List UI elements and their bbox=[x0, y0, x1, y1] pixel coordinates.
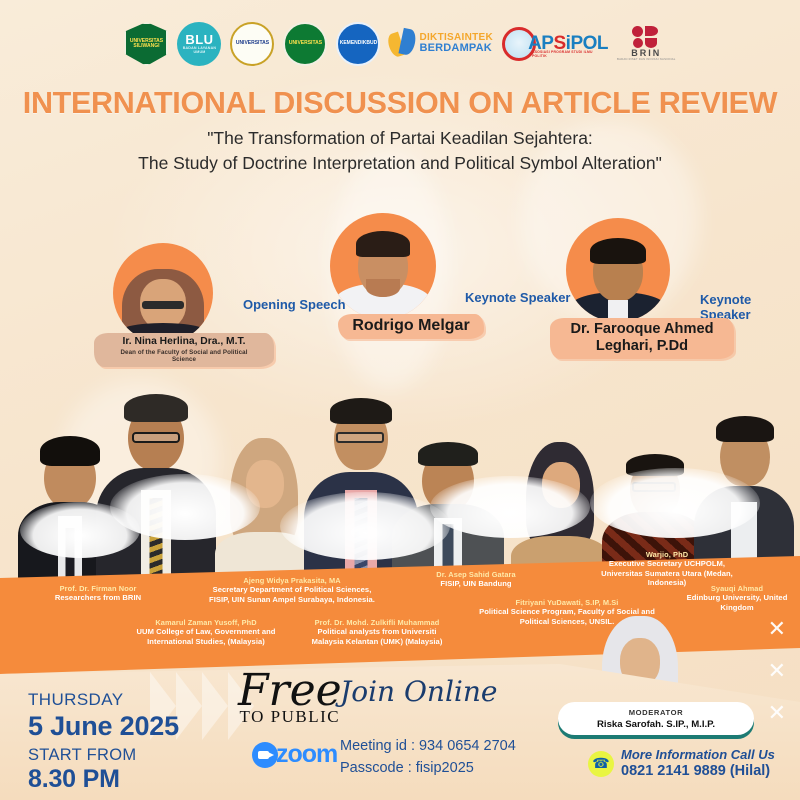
join-online-heading: Join Online bbox=[340, 678, 497, 706]
video-camera-icon bbox=[252, 742, 278, 768]
logo-sublabel: BADAN RISET DAN INOVASI NASIONAL bbox=[617, 58, 676, 61]
moderator-label: MODERATOR bbox=[562, 708, 750, 717]
speaker-name-line-2: Leghari, P.Dd bbox=[596, 338, 688, 354]
free-word: Free bbox=[238, 672, 342, 709]
join-online-text: Join Online bbox=[340, 678, 497, 706]
logo-apsipol: APSiPOL ASOSIASI PROGRAM STUDI ILMU POLI… bbox=[502, 27, 608, 61]
x-mark-icon: ✕ bbox=[768, 702, 786, 724]
speaker-name-farooque-ahmed-leghari: Dr. Farooque Ahmed Leghari, P.Dd bbox=[550, 318, 734, 359]
passcode-label: Passcode bbox=[340, 760, 404, 776]
poster-subtitle: "The Transformation of Partai Keadilan S… bbox=[0, 126, 800, 177]
brin-mark-icon bbox=[632, 26, 660, 48]
logo-label: UNIVERSITAS bbox=[236, 41, 269, 46]
zoom-logo: zoom bbox=[252, 740, 337, 769]
logo-unsil-green-shield: UNIVERSITAS SILIWANGI bbox=[124, 22, 168, 66]
event-datetime-block: THURSDAY 5 June 2025 START FROM 8.30 PM bbox=[28, 690, 179, 794]
event-start-label: START FROM bbox=[28, 746, 179, 765]
event-date: 5 June 2025 bbox=[28, 711, 179, 742]
speaker-name-text: Ir. Nina Herlina, Dra., M.T. bbox=[122, 336, 245, 347]
logo-green-circle-seal: UNIVERSITAS bbox=[283, 22, 327, 66]
logo-blu: BLU BADAN LAYANAN UMUM bbox=[177, 22, 221, 66]
contact-number: 0821 2141 9889 (Hilal) bbox=[621, 763, 775, 780]
poster-subtitle-line-1: "The Transformation of Partai Keadilan S… bbox=[0, 126, 800, 151]
phone-icon: ☎ bbox=[588, 751, 614, 777]
x-mark-icon: ✕ bbox=[768, 660, 786, 682]
meeting-id-row: Meeting id : 934 0654 2704 bbox=[340, 736, 516, 758]
contact-label: More Information Call Us bbox=[621, 748, 775, 763]
event-day: THURSDAY bbox=[28, 690, 179, 710]
moderator-badge: MODERATOR Riska Sarofah. S.IP., M.I.P. bbox=[558, 702, 754, 735]
speaker-card-farooque-ahmed-leghari bbox=[566, 218, 670, 322]
contact-block: ☎ More Information Call Us 0821 2141 988… bbox=[588, 748, 775, 780]
speaker-role-opening-speech: Opening Speech bbox=[243, 297, 346, 312]
poster-subtitle-line-2: The Study of Doctrine Interpretation and… bbox=[0, 151, 800, 176]
speaker-name-line-1: Dr. Farooque Ahmed bbox=[571, 321, 714, 337]
logo-diktisaintek-berdampak: DIKTISAINTEK BERDAMPAK bbox=[389, 29, 493, 59]
moderator-name: Riska Sarofah. S.IP., M.I.P. bbox=[562, 719, 750, 730]
logo-brin: BRIN BADAN RISET DAN INOVASI NASIONAL bbox=[617, 26, 676, 61]
free-sub: TO PUBLIC bbox=[238, 707, 342, 727]
logo-sublabel: ASOSIASI PROGRAM STUDI ILMU POLITIK bbox=[532, 50, 608, 58]
logo-label: UNIVERSITAS SILIWANGI bbox=[126, 39, 166, 50]
speaker-card-nina-herlina bbox=[113, 243, 213, 343]
speaker-name-rodrigo-melgar: Rodrigo Melgar bbox=[338, 314, 484, 339]
panel-speakers-photo-group bbox=[0, 356, 800, 586]
passcode-row: Passcode : fisip2025 bbox=[340, 758, 516, 780]
meeting-details: Meeting id : 934 0654 2704 Passcode : fi… bbox=[340, 736, 516, 780]
logo-sublabel: BERDAMPAK bbox=[419, 43, 493, 54]
meeting-id-label: Meeting id bbox=[340, 738, 407, 754]
zoom-label: zoom bbox=[276, 740, 337, 769]
portrait-farooque-ahmed-leghari bbox=[566, 218, 670, 322]
logo-bar: UNIVERSITAS SILIWANGI BLU BADAN LAYANAN … bbox=[0, 22, 800, 66]
logo-tut-wuri-handayani: KEMENDIKBUD bbox=[336, 22, 380, 66]
poster-title: INTERNATIONAL DISCUSSION ON ARTICLE REVI… bbox=[0, 86, 800, 121]
speaker-affiliation-text: Dean of the Faculty of Social and Politi… bbox=[108, 349, 260, 363]
speaker-name-nina-herlina: Ir. Nina Herlina, Dra., M.T. Dean of the… bbox=[94, 333, 274, 367]
meeting-id-value: : 934 0654 2704 bbox=[411, 738, 516, 754]
logo-label: UNIVERSITAS bbox=[289, 41, 322, 46]
speaker-name-text: Rodrigo Melgar bbox=[352, 317, 469, 334]
x-mark-icon: ✕ bbox=[768, 618, 786, 640]
speaker-role-keynote-1: Keynote Speaker bbox=[465, 290, 571, 305]
passcode-value: : fisip2025 bbox=[408, 760, 474, 776]
portrait-nina-herlina bbox=[113, 243, 213, 343]
free-to-public-block: Free TO PUBLIC bbox=[238, 672, 342, 727]
x-decorations: ✕ ✕ ✕ bbox=[768, 618, 786, 744]
diktisaintek-mark-icon bbox=[389, 29, 415, 59]
logo-sublabel: BADAN LAYANAN UMUM bbox=[177, 47, 221, 55]
logo-label: KEMENDIKBUD bbox=[340, 41, 378, 46]
event-poster: UNIVERSITAS SILIWANGI BLU BADAN LAYANAN … bbox=[0, 0, 800, 800]
logo-university-gold-seal: UNIVERSITAS bbox=[230, 22, 274, 66]
event-time: 8.30 PM bbox=[28, 765, 179, 794]
